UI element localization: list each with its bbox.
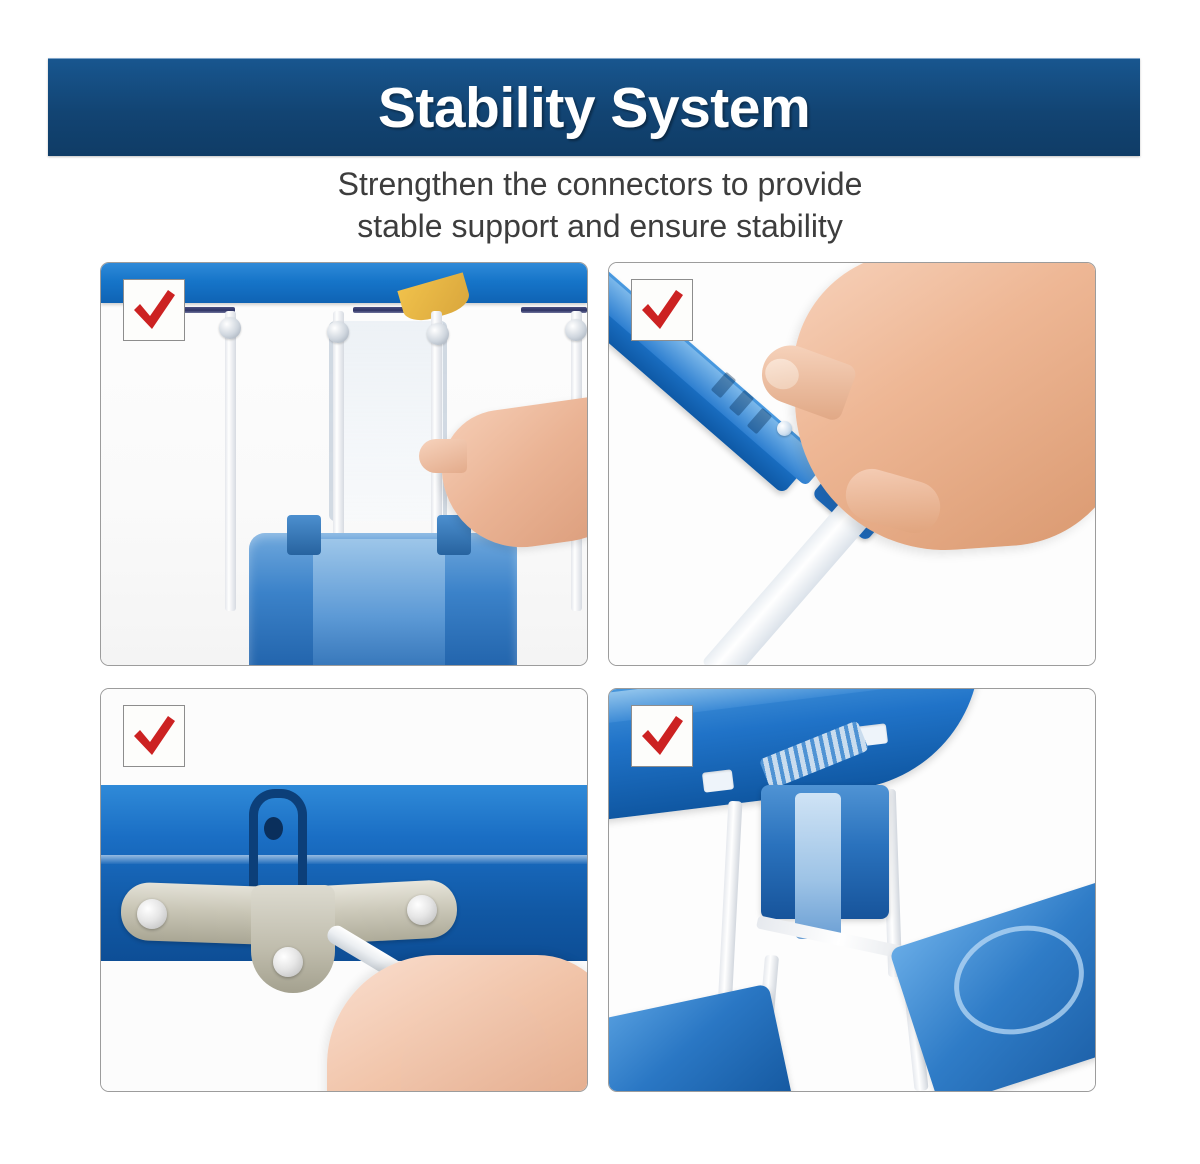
subtitle-line-2: stable support and ensure stability	[0, 205, 1200, 247]
page-title: Stability System	[378, 75, 810, 141]
base-center-plate	[313, 539, 445, 665]
header-band: Stability System	[48, 58, 1140, 156]
panel-connector-grip	[608, 262, 1096, 666]
subtitle-line-1: Strengthen the connectors to provide	[0, 163, 1200, 205]
connector-knob	[427, 323, 449, 345]
pivot-hole	[264, 817, 283, 840]
folding-hub-inner	[795, 793, 841, 939]
red-check-icon	[130, 288, 178, 332]
connector-knob	[327, 321, 349, 343]
metal-plate-center	[251, 885, 335, 993]
fingertip	[419, 439, 467, 473]
panel-folding-mechanism	[608, 688, 1096, 1092]
check-badge	[631, 705, 693, 767]
panel-frame-assembly	[100, 262, 588, 666]
feature-panel-grid	[100, 262, 1096, 1096]
red-check-icon	[638, 288, 686, 332]
clear-panel	[329, 321, 447, 521]
vent-slot	[702, 769, 734, 793]
panel-metal-hinge	[100, 688, 588, 1092]
subtitle-block: Strengthen the connectors to provide sta…	[0, 163, 1200, 247]
connector-knob	[565, 319, 587, 341]
red-check-icon	[130, 714, 178, 758]
base-arm	[287, 515, 321, 555]
table-leg	[225, 311, 236, 611]
check-badge	[123, 705, 185, 767]
edge-highlight	[101, 855, 587, 864]
connector-knob	[219, 317, 241, 339]
screw-head	[777, 421, 792, 436]
check-badge	[631, 279, 693, 341]
rivet	[407, 895, 437, 925]
rivet	[137, 899, 167, 929]
red-check-icon	[638, 714, 686, 758]
rivet	[273, 947, 303, 977]
check-badge	[123, 279, 185, 341]
